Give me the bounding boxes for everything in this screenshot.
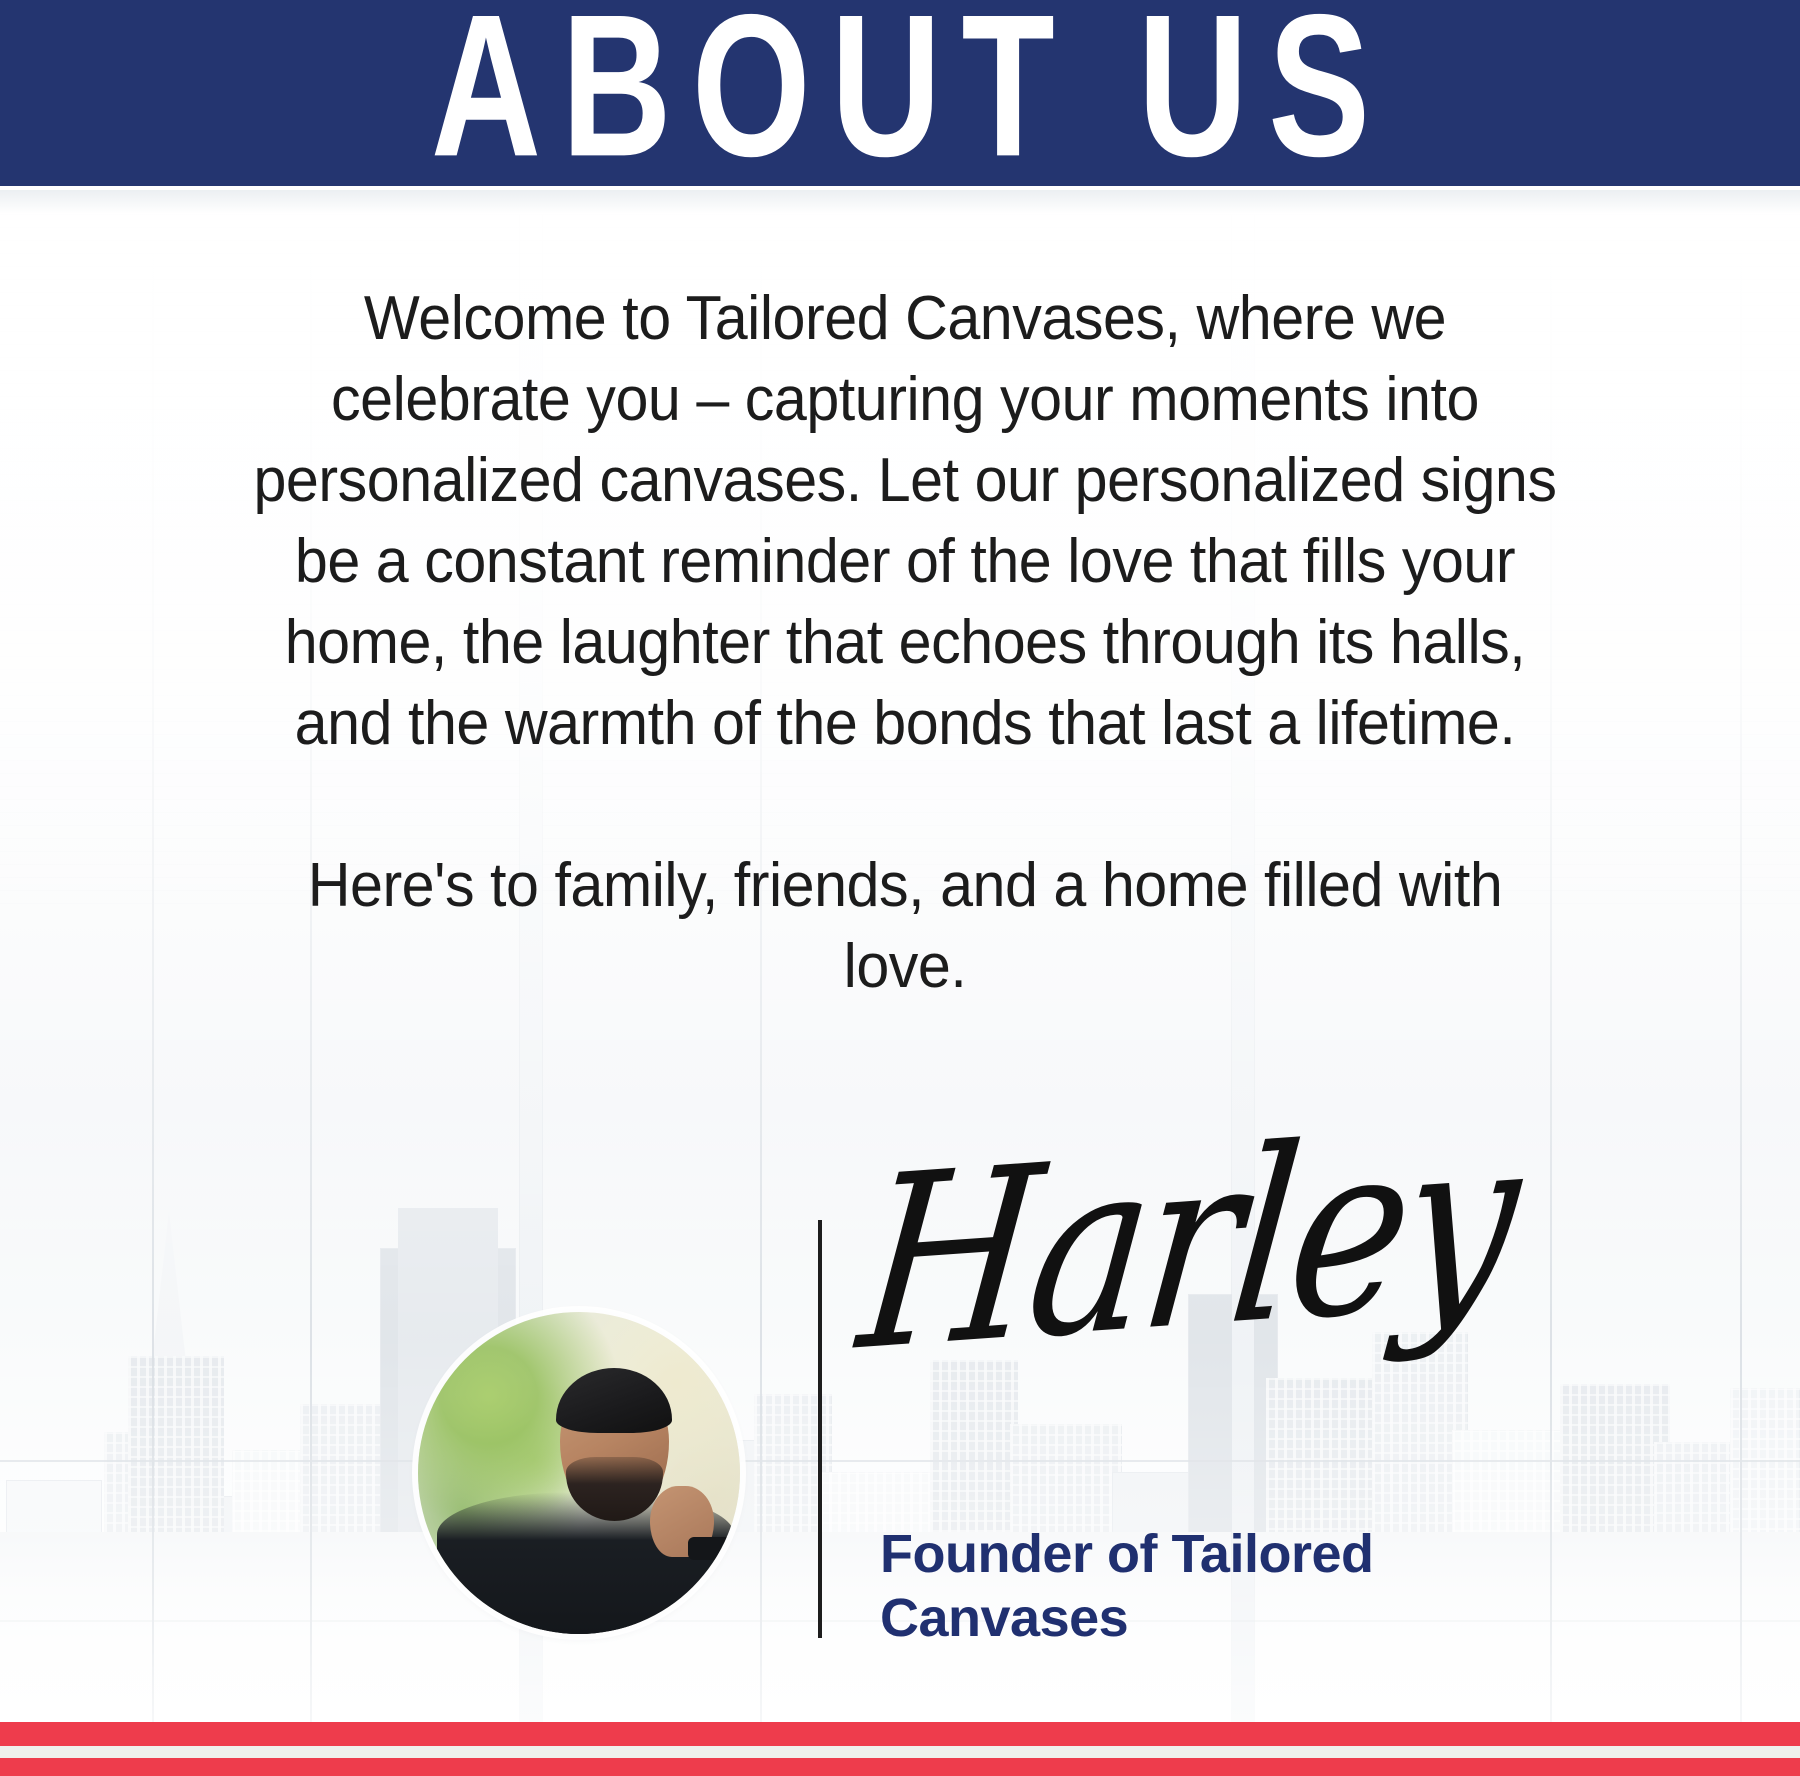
avatar <box>418 1312 740 1634</box>
founder-block: Harley Founder of Tailored Canvases <box>0 1290 1800 1670</box>
founder-role: Founder of Tailored Canvases <box>880 1522 1480 1650</box>
page-title: ABOUT US <box>410 0 1390 188</box>
about-paragraph-2: Here's to family, friends, and a home fi… <box>251 845 1559 1007</box>
paragraph-spacer <box>251 764 1559 845</box>
vertical-divider <box>818 1220 822 1638</box>
founder-role-line-1: Founder of Tailored <box>880 1522 1480 1586</box>
about-us-body: Welcome to Tailored Canvases, where we c… <box>251 278 1559 1007</box>
footer-bar-bottom <box>0 1758 1800 1776</box>
about-paragraph-1: Welcome to Tailored Canvases, where we c… <box>251 278 1559 764</box>
footer-bar-gap <box>0 1746 1800 1758</box>
avatar-watch <box>688 1537 736 1560</box>
footer-bar-top <box>0 1722 1800 1746</box>
about-us-card: ABOUT US Welcome to Tailored Canvases, w… <box>0 0 1800 1776</box>
founder-signature: Harley <box>844 1111 1395 1457</box>
header-banner: ABOUT US <box>0 0 1800 180</box>
header-shadow <box>0 190 1800 214</box>
founder-role-line-2: Canvases <box>880 1586 1480 1650</box>
